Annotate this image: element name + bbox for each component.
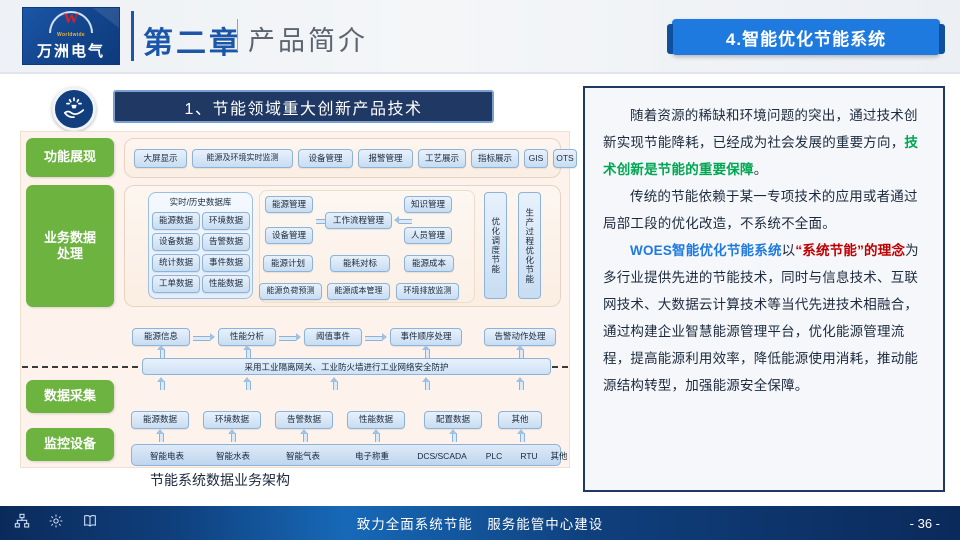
arrow-up-3 — [516, 345, 525, 358]
arrow-up-9 — [156, 429, 165, 442]
section-subtitle-label: 1、节能领域重大创新产品技术 — [185, 95, 423, 119]
para3-highlight-woes: WOES智能优化节能系统 — [630, 243, 782, 258]
data-node-5[interactable]: 其他 — [498, 411, 542, 429]
chapter-subtitle: 产品简介 — [248, 19, 368, 58]
arrow-up-13 — [449, 429, 458, 442]
para1-text-a: 随着资源的稀缺和环境问题的突出，通过技术创新实现节能降耗，已经成为社会发展的重要… — [603, 108, 918, 150]
device-item-6[interactable]: RTU — [512, 445, 546, 467]
process-node-3[interactable]: 事件顺序处理 — [390, 328, 462, 346]
footer-slogan: 致力全面系统节能 服务能管中心建设 — [0, 506, 960, 540]
database-item-7[interactable]: 性能数据 — [202, 275, 250, 293]
function-node-4[interactable]: 工艺展示 — [418, 149, 466, 168]
database-item-3[interactable]: 告警数据 — [202, 233, 250, 251]
arrow-up-6 — [330, 377, 339, 390]
fn-right-top[interactable]: 知识管理 — [404, 196, 452, 213]
data-node-0[interactable]: 能源数据 — [131, 411, 189, 429]
section-banner: 4.智能优化节能系统 — [672, 19, 940, 55]
data-node-3[interactable]: 性能数据 — [347, 411, 405, 429]
process-node-alarm[interactable]: 告警动作处理 — [484, 328, 556, 346]
device-item-7[interactable]: 其他 — [542, 445, 576, 467]
page-number: - 36 - — [910, 506, 940, 540]
arrow-up-7 — [422, 377, 431, 390]
chapter-separator — [237, 19, 238, 51]
description-paragraph-3: WOES智能优化节能系统以“系统节能”的理念为多行业提供先进的节能技术，同时与信… — [603, 237, 927, 399]
fn-left-top[interactable]: 能源管理 — [265, 196, 313, 213]
device-item-2[interactable]: 智能气表 — [274, 445, 332, 467]
process-arrow-2 — [365, 333, 387, 341]
process-arrow-1 — [279, 333, 301, 341]
function-node-2[interactable]: 设备管理 — [298, 149, 353, 168]
arrow-up-12 — [372, 429, 381, 442]
arrow-up-14 — [517, 429, 526, 442]
section-subtitle-bar: 1、节能领域重大创新产品技术 — [113, 90, 494, 123]
device-bar: 智能电表 智能水表 智能气表 电子称重 DCS/SCADA PLC RTU 其他 — [131, 444, 561, 466]
database-item-6[interactable]: 工单数据 — [152, 275, 200, 293]
database-item-2[interactable]: 设备数据 — [152, 233, 200, 251]
function-node-6[interactable]: GIS — [524, 149, 548, 168]
section-banner-label: 4.智能优化节能系统 — [726, 25, 886, 50]
chapter-title: 第二章 — [143, 18, 242, 62]
band-label-function: 功能展现 — [26, 138, 114, 177]
arrow-up-0 — [157, 345, 166, 358]
function-node-7[interactable]: OTS — [553, 149, 577, 168]
fn-right-bottom[interactable]: 人员管理 — [404, 227, 452, 244]
process-node-2[interactable]: 阈值事件 — [304, 328, 362, 346]
device-item-5[interactable]: PLC — [477, 445, 511, 467]
arrow-up-11 — [300, 429, 309, 442]
para3-text-b: 为多行业提供先进的节能技术，同时与信息技术、互联网技术、大数据云计算技术等当代先… — [603, 243, 919, 393]
para1-text-b: 。 — [754, 162, 768, 177]
fn-center-workflow[interactable]: 工作流程管理 — [325, 212, 392, 229]
description-panel: 随着资源的稀缺和环境问题的突出，通过技术创新实现节能降耗，已经成为社会发展的重要… — [583, 86, 945, 492]
arrow-to-workflow-right — [394, 216, 412, 224]
fn-row2-1[interactable]: 能耗对标 — [330, 255, 390, 272]
database-item-1[interactable]: 环境数据 — [202, 212, 250, 230]
vertical-bar-label-1: 生产过程优化节能 — [525, 208, 534, 284]
energy-saving-hand-icon — [52, 87, 96, 131]
database-item-4[interactable]: 统计数据 — [152, 254, 200, 272]
arrow-up-4 — [157, 377, 166, 390]
logo-company-name: 万洲电气 — [37, 40, 105, 61]
arrow-up-2 — [422, 345, 431, 358]
logo-mark-icon: W — [49, 11, 93, 31]
diagram-caption: 节能系统数据业务架构 — [20, 470, 420, 490]
fn-row3-2[interactable]: 环境排放监测 — [396, 283, 459, 300]
para3-highlight-concept: “系统节能”的理念 — [795, 243, 905, 258]
function-node-5[interactable]: 指标展示 — [471, 149, 519, 168]
fn-left-bottom[interactable]: 设备管理 — [265, 227, 313, 244]
fn-row3-1[interactable]: 能源成本管理 — [327, 283, 390, 300]
database-item-5[interactable]: 事件数据 — [202, 254, 250, 272]
device-item-0[interactable]: 智能电表 — [138, 445, 196, 467]
fn-row3-0[interactable]: 能源负荷预测 — [259, 283, 322, 300]
band-label-devices: 监控设备 — [26, 428, 114, 461]
process-node-1[interactable]: 性能分析 — [218, 328, 276, 346]
fn-row2-2[interactable]: 能源成本 — [404, 255, 454, 272]
function-node-0[interactable]: 大屏显示 — [134, 149, 187, 168]
device-item-4[interactable]: DCS/SCADA — [407, 445, 477, 467]
arrow-up-8 — [516, 377, 525, 390]
company-logo: W Worldwide 万洲电气 — [22, 7, 120, 65]
function-node-1[interactable]: 能源及环境实时监测 — [192, 149, 293, 168]
band-label-collection: 数据采集 — [26, 380, 114, 413]
device-item-1[interactable]: 智能水表 — [204, 445, 262, 467]
database-item-0[interactable]: 能源数据 — [152, 212, 200, 230]
header-divider — [131, 11, 134, 61]
vertical-bar-label-0: 优化调度节能 — [491, 217, 500, 274]
vertical-bar-process-optimization[interactable]: 生产过程优化节能 — [518, 192, 541, 299]
data-node-4[interactable]: 配置数据 — [424, 411, 482, 429]
fn-row2-0[interactable]: 能源计划 — [263, 255, 313, 272]
database-title: 实时/历史数据库 — [148, 194, 253, 209]
vertical-bar-optimized-dispatch[interactable]: 优化调度节能 — [484, 192, 507, 299]
arrow-up-1 — [243, 345, 252, 358]
description-paragraph-2: 传统的节能依赖于某一专项技术的应用或者通过局部工段的优化改造，不系统不全面。 — [603, 183, 927, 237]
description-paragraph-1: 随着资源的稀缺和环境问题的突出，通过技术创新实现节能降耗，已经成为社会发展的重要… — [603, 102, 927, 183]
data-node-2[interactable]: 告警数据 — [275, 411, 333, 429]
logo-letter: W — [49, 12, 93, 27]
function-node-3[interactable]: 报警管理 — [358, 149, 413, 168]
security-gateway-bar: 采用工业隔离网关、工业防火墙进行工业网络安全防护 — [142, 358, 551, 375]
arrow-up-10 — [228, 429, 237, 442]
data-node-1[interactable]: 环境数据 — [203, 411, 261, 429]
arrow-up-5 — [243, 377, 252, 390]
process-arrow-0 — [193, 333, 215, 341]
band-label-business: 业务数据 处理 — [26, 185, 114, 307]
header-rule — [0, 72, 960, 74]
para3-text-a: 以 — [782, 243, 796, 258]
process-node-0[interactable]: 能源信息 — [132, 328, 190, 346]
device-item-3[interactable]: 电子称重 — [343, 445, 401, 467]
